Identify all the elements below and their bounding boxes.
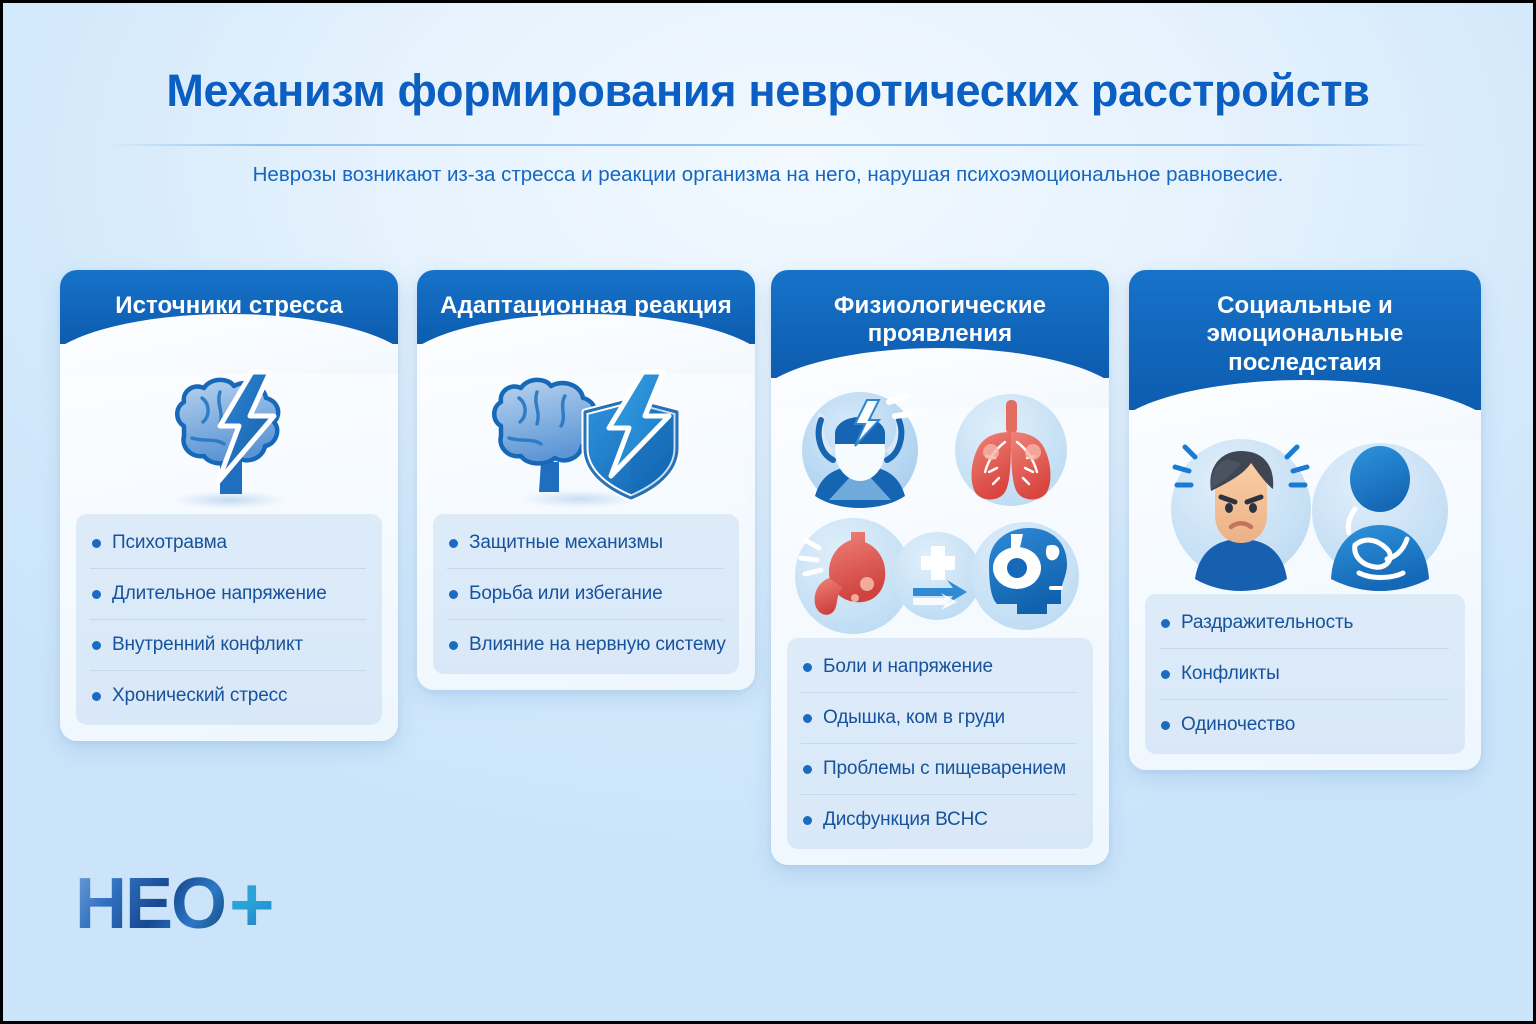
list-item-label: Боли и напряжение [823, 656, 993, 678]
card-stress-sources: Источники стресса [60, 270, 398, 741]
brain-shield-lightning-icon [461, 364, 711, 514]
list-item: Конфликты [1159, 649, 1449, 700]
list-item: Внутренний конфликт [90, 620, 366, 671]
list-item: Хронический стресс [90, 671, 366, 721]
list-item: Борьба или избегание [447, 569, 723, 620]
list-item: Одиночество [1159, 700, 1449, 750]
list-item-label: Хронический стресс [112, 685, 287, 707]
page-subtitle: Неврозы возникают из-за стресса и реакци… [3, 163, 1533, 187]
card-artwork-adaptive-response [417, 364, 755, 514]
headache-person-icon [802, 392, 918, 508]
head-brain-icon [971, 522, 1079, 630]
list-item-label: Психотравма [112, 532, 227, 554]
infographic-canvas: Механизм формирования невротических расс… [0, 0, 1536, 1024]
brand-logo: НЕО + [75, 865, 275, 943]
bullet-dot-icon [1161, 619, 1170, 628]
bullet-dot-icon [803, 663, 812, 672]
brain-lightning-icon [124, 364, 334, 514]
card-title: Физиологические проявления [834, 292, 1046, 347]
bullet-panel-stress-sources: Психотравма Длительное напряжение Внутре… [76, 514, 382, 725]
card-header-stress-sources: Источники стресса [60, 270, 398, 344]
card-header-adaptive-response: Адаптационная реакция [417, 270, 755, 344]
list-item: Психотравма [90, 518, 366, 569]
physiological-icon-group [785, 388, 1095, 638]
list-item-label: Раздражительность [1181, 612, 1353, 634]
list-item-label: Одиночество [1181, 714, 1295, 736]
title-divider [108, 144, 1434, 146]
logo-plus-icon: + [229, 865, 275, 943]
lungs-icon [955, 394, 1067, 506]
bullet-dot-icon [92, 641, 101, 650]
bullet-panel-physiological-symptoms: Боли и напряжение Одышка, ком в груди Пр… [787, 638, 1093, 849]
bullet-dot-icon [92, 692, 101, 701]
bullet-dot-icon [92, 539, 101, 548]
lonely-person-icon [1312, 443, 1448, 591]
bullet-dot-icon [449, 590, 458, 599]
bullet-dot-icon [1161, 721, 1170, 730]
logo-text: НЕО [75, 868, 225, 940]
bullet-dot-icon [803, 816, 812, 825]
list-item: Проблемы с пищеварением [801, 744, 1077, 795]
list-item-label: Влияние на нервную систему [469, 634, 726, 656]
card-artwork-social-emotional [1129, 424, 1481, 594]
list-item-label: Проблемы с пищеварением [823, 758, 1066, 780]
list-item-label: Конфликты [1181, 663, 1280, 685]
list-item: Боли и напряжение [801, 642, 1077, 693]
list-item-label: Дисфункция ВСНС [823, 809, 988, 831]
bullet-dot-icon [803, 765, 812, 774]
list-item-label: Длительное напряжение [112, 583, 327, 605]
card-title: Социальные и эмоциональные последстаия [1207, 292, 1404, 376]
list-item-label: Внутренний конфликт [112, 634, 303, 656]
list-item: Длительное напряжение [90, 569, 366, 620]
bullet-dot-icon [449, 539, 458, 548]
card-header-physiological-symptoms: Физиологические проявления [771, 270, 1109, 378]
list-item: Защитные механизмы [447, 518, 723, 569]
card-social-emotional-consequences: Социальные и эмоциональные последстаия [1129, 270, 1481, 770]
card-header-social-emotional: Социальные и эмоциональные последстаия [1129, 270, 1481, 410]
bullet-panel-social-emotional: Раздражительность Конфликты Одиночество [1145, 594, 1465, 754]
card-physiological-symptoms: Физиологические проявления [771, 270, 1109, 865]
list-item-label: Защитные механизмы [469, 532, 663, 554]
page-title: Механизм формирования невротических расс… [3, 65, 1533, 117]
card-artwork-physiological-symptoms [771, 388, 1109, 638]
bullet-panel-adaptive-response: Защитные механизмы Борьба или избегание … [433, 514, 739, 674]
transition-arrows-icon [893, 532, 981, 620]
bullet-dot-icon [803, 714, 812, 723]
social-icon-group [1155, 427, 1455, 592]
list-item-label: Одышка, ком в груди [823, 707, 1005, 729]
card-adaptive-response: Адаптационная реакция [417, 270, 755, 690]
list-item: Одышка, ком в груди [801, 693, 1077, 744]
bullet-dot-icon [449, 641, 458, 650]
list-item: Дисфункция ВСНС [801, 795, 1077, 845]
list-item-label: Борьба или избегание [469, 583, 663, 605]
list-item: Раздражительность [1159, 598, 1449, 649]
list-item: Влияние на нервную систему [447, 620, 723, 670]
card-artwork-stress-sources [60, 364, 398, 514]
angry-person-icon [1171, 439, 1311, 591]
bullet-dot-icon [92, 590, 101, 599]
bullet-dot-icon [1161, 670, 1170, 679]
